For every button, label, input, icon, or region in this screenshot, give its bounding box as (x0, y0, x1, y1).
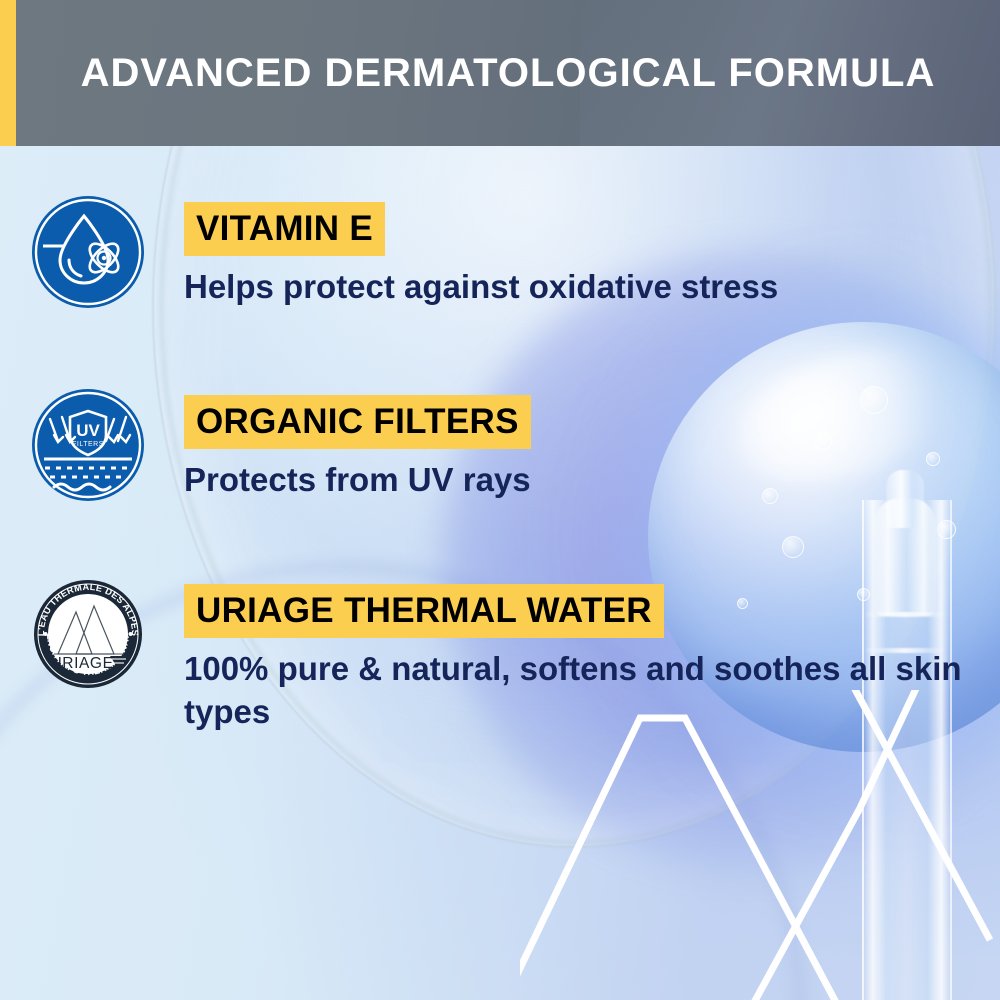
feature-description: 100% pure & natural, softens and soothes… (184, 648, 964, 734)
feature-title: ORGANIC FILTERS (184, 395, 531, 449)
feature-text-block: URIAGE THERMAL WATER 100% pure & natural… (184, 578, 964, 734)
feature-row-vitamin-e: VITAMIN E Helps protect against oxidativ… (0, 196, 778, 309)
bubble (782, 536, 804, 558)
bubble (860, 386, 888, 414)
bubble (762, 488, 778, 504)
uv-filters-shield-glyph: UV FILTERS (32, 389, 144, 501)
uriage-thermal-water-seal-icon: L'EAU THERMALE DES ALPES FRENCH ALPS THE… (32, 578, 144, 690)
feature-text-block: VITAMIN E Helps protect against oxidativ… (184, 196, 778, 309)
header-banner: ADVANCED DERMATOLOGICAL FORMULA (0, 0, 1000, 146)
feature-row-uriage-thermal-water: L'EAU THERMALE DES ALPES FRENCH ALPS THE… (0, 578, 964, 734)
bubble (814, 432, 832, 450)
feature-description: Protects from UV rays (184, 459, 531, 502)
bubble (926, 452, 940, 466)
feature-description: Helps protect against oxidative stress (184, 266, 778, 309)
uv-filters-shield-icon: UV FILTERS (32, 389, 144, 501)
feature-title: URIAGE THERMAL WATER (184, 584, 664, 638)
feature-row-organic-filters: UV FILTERS ORGA (0, 389, 531, 502)
seal-wordmark: URIAGE (50, 655, 113, 672)
product-infographic: ADVANCED DERMATOLOGICAL FORMULA (0, 0, 1000, 1000)
shield-filters-label: FILTERS (72, 441, 104, 448)
uriage-seal-glyph: L'EAU THERMALE DES ALPES FRENCH ALPS THE… (32, 578, 144, 690)
feature-text-block: ORGANIC FILTERS Protects from UV rays (184, 389, 531, 502)
water-drop-antioxidant-glyph (32, 196, 144, 308)
water-drop-antioxidant-icon (32, 196, 144, 308)
shield-uv-label: UV (76, 421, 100, 440)
glass-ampoule-tip (886, 470, 924, 528)
feature-title: VITAMIN E (184, 202, 385, 256)
page-title: ADVANCED DERMATOLOGICAL FORMULA (0, 51, 1000, 96)
mountain-line-art (520, 690, 1000, 1000)
